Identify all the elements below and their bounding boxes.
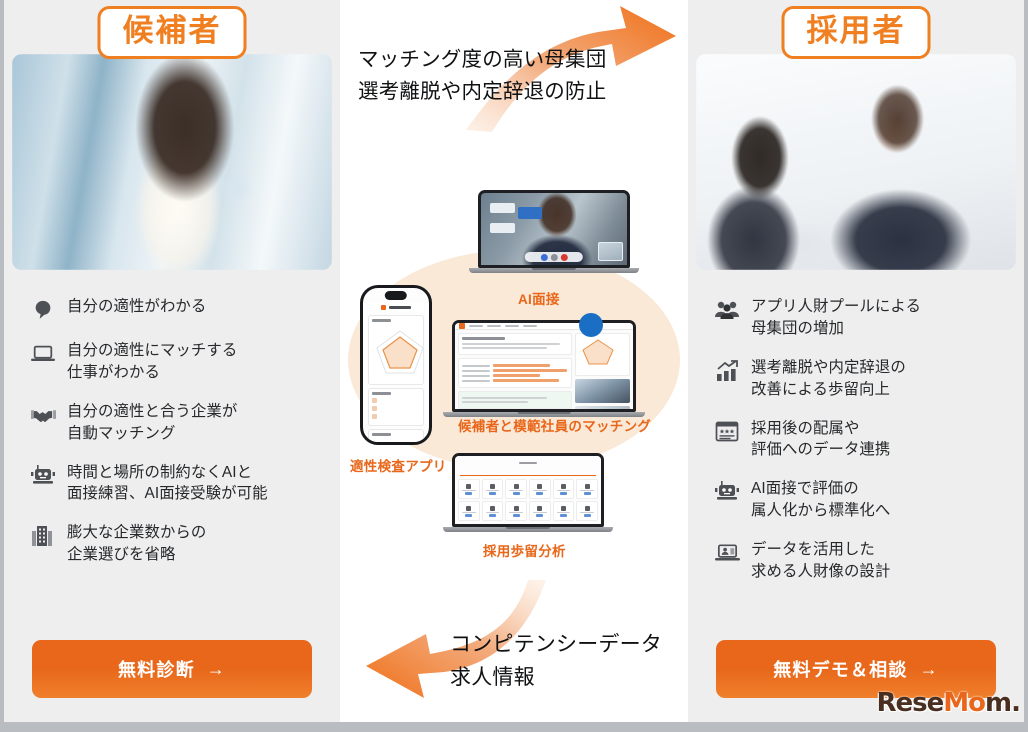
analytics-tabbar [460, 469, 596, 476]
keyword-row: Python質問 [372, 439, 420, 445]
matching-dashboard-laptop [452, 320, 636, 417]
list-item: 膨大な企業数からの 企業選びを省略 [28, 522, 326, 566]
dashboard-side-column [575, 333, 630, 412]
list-item-label: 自分の適性にマッチする 仕事がわかる [67, 340, 237, 384]
handshake-icon [28, 402, 58, 428]
highlight-dot [579, 313, 603, 337]
arrow-right-icon: → [920, 659, 939, 680]
comment-row [372, 398, 420, 403]
radar-chart [372, 325, 420, 381]
slide-chip [518, 207, 543, 219]
caption-chip [490, 203, 515, 213]
free-demo-label: 無料デモ＆相談 [773, 656, 907, 682]
laptop-base [443, 527, 613, 532]
comment-row [372, 414, 420, 419]
nav-item [523, 325, 537, 327]
infographic-root: 自分の適性がわかる 自分の適性にマッチする 仕事がわかる 自分の適性と合う企業が… [0, 0, 1028, 732]
robot-icon [28, 463, 58, 489]
list-item: アプリ人財プールによる 母集団の増加 [712, 296, 1010, 340]
metric-cell [576, 501, 598, 521]
candidate-photo-image [12, 54, 332, 270]
ai-comment-card [368, 388, 424, 426]
candidate-photo [12, 54, 332, 270]
metrics-grid [458, 479, 598, 521]
watermark-dot: . [1011, 688, 1020, 718]
list-item: 選考離脱や内定辞退の 改善による歩留向上 [712, 357, 1010, 401]
list-item-label: 採用後の配属や 評価へのデータ連携 [751, 418, 890, 462]
candidate-badge: 候補者 [98, 6, 247, 59]
aptitude-test-phone: Python質問 [360, 285, 432, 445]
match-radar-card [575, 333, 630, 376]
nav-item [505, 325, 519, 327]
bottom-caption: コンピテンシーデータ 求人情報 [450, 629, 662, 694]
laptop-person-icon [712, 540, 742, 566]
ai-interview-caption: AI面接 [518, 288, 560, 308]
list-item: 時間と場所の制約なくAIと 面接練習、AI面接受験が可能 [28, 462, 326, 506]
list-item-label: 自分の適性と合う企業が 自動マッチング [67, 401, 237, 445]
recruiter-panel: アプリ人財プールによる 母集団の増加 選考離脱や内定辞退の 改善による歩留向上 … [688, 0, 1024, 722]
bar-row [462, 379, 568, 382]
list-item: AI面接で評価の 属人化から標準化へ [712, 478, 1010, 522]
brand-logo-icon [459, 323, 465, 329]
call-toolbar [525, 252, 583, 262]
bullet-number [372, 406, 377, 411]
list-item-label: 膨大な企業数からの 企業選びを省略 [67, 522, 206, 566]
retention-analytics-screen [455, 456, 601, 524]
competency-bars-card [458, 358, 572, 388]
person-head-icon [28, 297, 58, 323]
metric-cell [458, 479, 480, 499]
mic-icon [540, 254, 547, 261]
candidate-badge-label: 候補者 [123, 13, 222, 48]
retention-caption: 採用歩留分析 [483, 540, 566, 560]
bar-row [462, 374, 568, 377]
bar-row [462, 364, 568, 367]
card-title-bar [372, 319, 391, 322]
caption-chip [490, 223, 515, 232]
free-diagnosis-button[interactable]: 無料診断 → [32, 640, 312, 698]
watermark-part2: Mo [943, 688, 985, 718]
dashboard-main-column [458, 333, 572, 412]
free-diagnosis-label: 無料診断 [118, 656, 195, 682]
resemom-watermark: ReseMom. [877, 688, 1021, 718]
center-flow: マッチング度の高い母集団 選考離脱や内定辞退の防止 AI面接 [340, 0, 688, 722]
aptitude-test-caption: 適性検査アプリ [350, 455, 447, 475]
comment-row [372, 406, 420, 411]
recruiter-feature-list: アプリ人財プールによる 母集団の増加 選考離脱や内定辞退の 改善による歩留向上 … [712, 296, 1010, 600]
list-item-label: 時間と場所の制約なくAIと 面接練習、AI面接受験が可能 [67, 462, 268, 506]
list-item: 自分の適性にマッチする 仕事がわかる [28, 340, 326, 384]
bullet-number [372, 414, 377, 419]
keyword-green: 質問 [395, 441, 406, 445]
list-item-label: データを活用した 求める人財像の設計 [751, 539, 890, 583]
retention-analytics-laptop [452, 453, 604, 532]
list-item: 自分の適性と合う企業が 自動マッチング [28, 401, 326, 445]
employee-photo [575, 379, 630, 403]
card-title-bar [372, 433, 391, 436]
metric-cell [505, 501, 527, 521]
candidate-feature-list: 自分の適性がわかる 自分の適性にマッチする 仕事がわかる 自分の適性と合う企業が… [28, 296, 326, 583]
card-title-bar [372, 392, 391, 395]
summary-card [458, 391, 572, 409]
arrow-right-icon: → [207, 659, 226, 680]
metric-cell [553, 479, 575, 499]
metric-cell [482, 479, 504, 499]
metric-cell [458, 501, 480, 521]
watermark-part1: Rese [877, 688, 944, 718]
metric-cell [482, 501, 504, 521]
analytics-header [458, 459, 598, 467]
bar-chart-up-icon [712, 358, 742, 384]
keyword-card: Python質問 [368, 429, 424, 445]
recruiter-badge: 採用者 [782, 6, 931, 59]
metric-cell [529, 501, 551, 521]
phone-notch [385, 291, 407, 300]
app-logo-icon [381, 305, 386, 310]
nav-item [487, 325, 501, 327]
matching-dashboard-screen [455, 323, 633, 409]
robot-icon [712, 479, 742, 505]
top-caption: マッチング度の高い母集団 選考離脱や内定辞退の防止 [358, 44, 606, 108]
list-item: データを活用した 求める人財像の設計 [712, 539, 1010, 583]
frame-edge-bottom [0, 722, 1028, 732]
camera-icon [550, 254, 557, 261]
nav-item [469, 325, 483, 327]
review-document-icon [712, 419, 742, 445]
bullet-number [372, 398, 377, 403]
bar-row [462, 369, 568, 372]
recruiter-photo-image [696, 54, 1016, 270]
recruiter-photo [696, 54, 1016, 270]
list-item-label: AI面接で評価の 属人化から標準化へ [751, 478, 890, 522]
aptitude-app-screen: Python質問 [363, 288, 429, 442]
ai-interview-laptop [478, 190, 630, 273]
bottom-caption-line1: コンピテンシーデータ [450, 629, 662, 662]
self-view-thumbnail [598, 242, 623, 261]
dashboard-navbar [455, 323, 633, 330]
metric-cell [505, 479, 527, 499]
list-item-label: 自分の適性がわかる [67, 296, 206, 318]
profile-card [458, 333, 572, 355]
metric-cell [553, 501, 575, 521]
top-caption-line1: マッチング度の高い母集団 [358, 44, 606, 76]
dashboard-body [455, 330, 633, 412]
end-call-icon [560, 254, 567, 261]
metric-cell [576, 479, 598, 499]
frame-edge-right [1024, 0, 1028, 732]
top-caption-line2: 選考離脱や内定辞退の防止 [358, 76, 606, 108]
radar-chart-card [368, 315, 424, 385]
list-item: 自分の適性がわかる [28, 296, 326, 323]
laptop-base [469, 268, 639, 273]
candidate-panel: 自分の適性がわかる 自分の適性にマッチする 仕事がわかる 自分の適性と合う企業が… [4, 0, 340, 722]
watermark-part3: m [985, 688, 1011, 718]
app-title-bar [389, 306, 411, 309]
frame-edge-left [0, 0, 4, 732]
recruiter-badge-label: 採用者 [807, 13, 906, 48]
list-item-label: 選考離脱や内定辞退の 改善による歩留向上 [751, 357, 906, 401]
laptop-icon [28, 341, 58, 367]
ai-interview-screen [481, 193, 627, 265]
app-header [368, 303, 424, 312]
list-item: 採用後の配属や 評価へのデータ連携 [712, 418, 1010, 462]
metric-cell [529, 479, 551, 499]
building-icon [28, 523, 58, 549]
people-group-icon [712, 297, 742, 323]
card-title-bar [462, 337, 505, 340]
bottom-caption-line2: 求人情報 [450, 662, 662, 695]
list-item-label: アプリ人財プールによる 母集団の増加 [751, 296, 921, 340]
matching-caption: 候補者と模範社員のマッチング [458, 415, 651, 435]
